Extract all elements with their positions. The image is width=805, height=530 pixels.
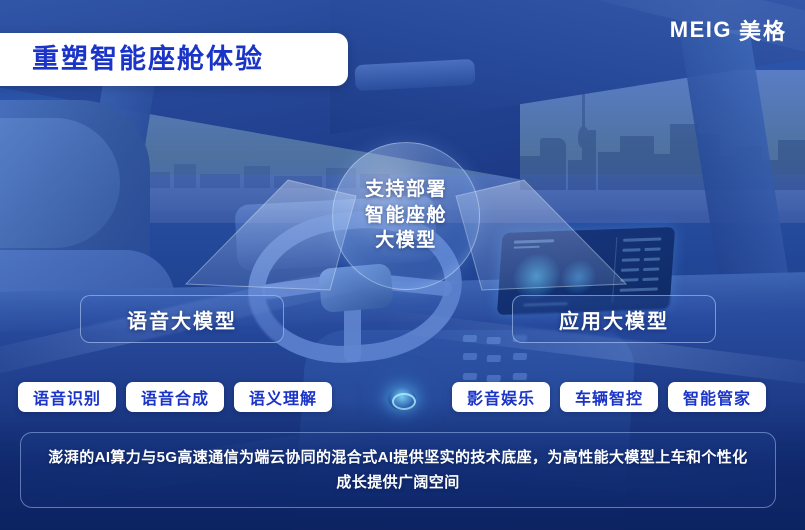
center-bubble: 支持部署 智能座舱 大模型 <box>332 142 480 290</box>
tag-row-left: 语音识别 语音合成 语义理解 <box>18 382 332 412</box>
footnote-text: 澎湃的AI算力与5G高速通信为端云协同的混合式AI提供坚实的技术底座，为高性能大… <box>43 445 753 496</box>
pillar-label: 应用大模型 <box>559 305 669 334</box>
bubble-line-3: 大模型 <box>375 230 437 253</box>
screen-side-panel <box>612 235 669 303</box>
brand-logo: MEIG 美格 <box>670 14 787 46</box>
tag-label: 语义理解 <box>249 385 317 409</box>
logo-cn-text: 美格 <box>739 14 787 46</box>
logo-latin-text: MEIG <box>670 17 732 43</box>
bubble-line-2: 智能座舱 <box>365 205 447 228</box>
title-panel: 重塑智能座舱体验 <box>0 33 348 86</box>
screen-glow-primary <box>512 253 561 301</box>
pillar-voice-model[interactable]: 语音大模型 <box>80 295 284 343</box>
tag-label: 车辆智控 <box>575 385 643 409</box>
tag-speech-recognition[interactable]: 语音识别 <box>18 382 116 412</box>
pillar-application-model[interactable]: 应用大模型 <box>512 295 716 343</box>
footnote-panel: 澎湃的AI算力与5G高速通信为端云协同的混合式AI提供坚实的技术底座，为高性能大… <box>20 432 776 508</box>
page-title: 重塑智能座舱体验 <box>32 46 264 73</box>
tag-vehicle-control[interactable]: 车辆智控 <box>560 382 658 412</box>
tag-label: 语音合成 <box>141 385 209 409</box>
screen-glow-secondary <box>560 260 596 295</box>
tag-semantic-understanding[interactable]: 语义理解 <box>234 382 332 412</box>
tag-label: 语音识别 <box>33 385 101 409</box>
tag-label: 影音娱乐 <box>467 385 535 409</box>
pillar-label: 语音大模型 <box>127 305 237 334</box>
tag-smart-butler[interactable]: 智能管家 <box>668 382 766 412</box>
bubble-line-1: 支持部署 <box>365 179 447 202</box>
tag-label: 智能管家 <box>683 385 751 409</box>
slide-root: 重塑智能座舱体验 MEIG 美格 支持部署 智能座舱 大模型 语音大模型 应用大… <box>0 0 805 530</box>
tag-speech-synthesis[interactable]: 语音合成 <box>126 382 224 412</box>
tag-entertainment[interactable]: 影音娱乐 <box>452 382 550 412</box>
tag-row-right: 影音娱乐 车辆智控 智能管家 <box>452 382 766 412</box>
